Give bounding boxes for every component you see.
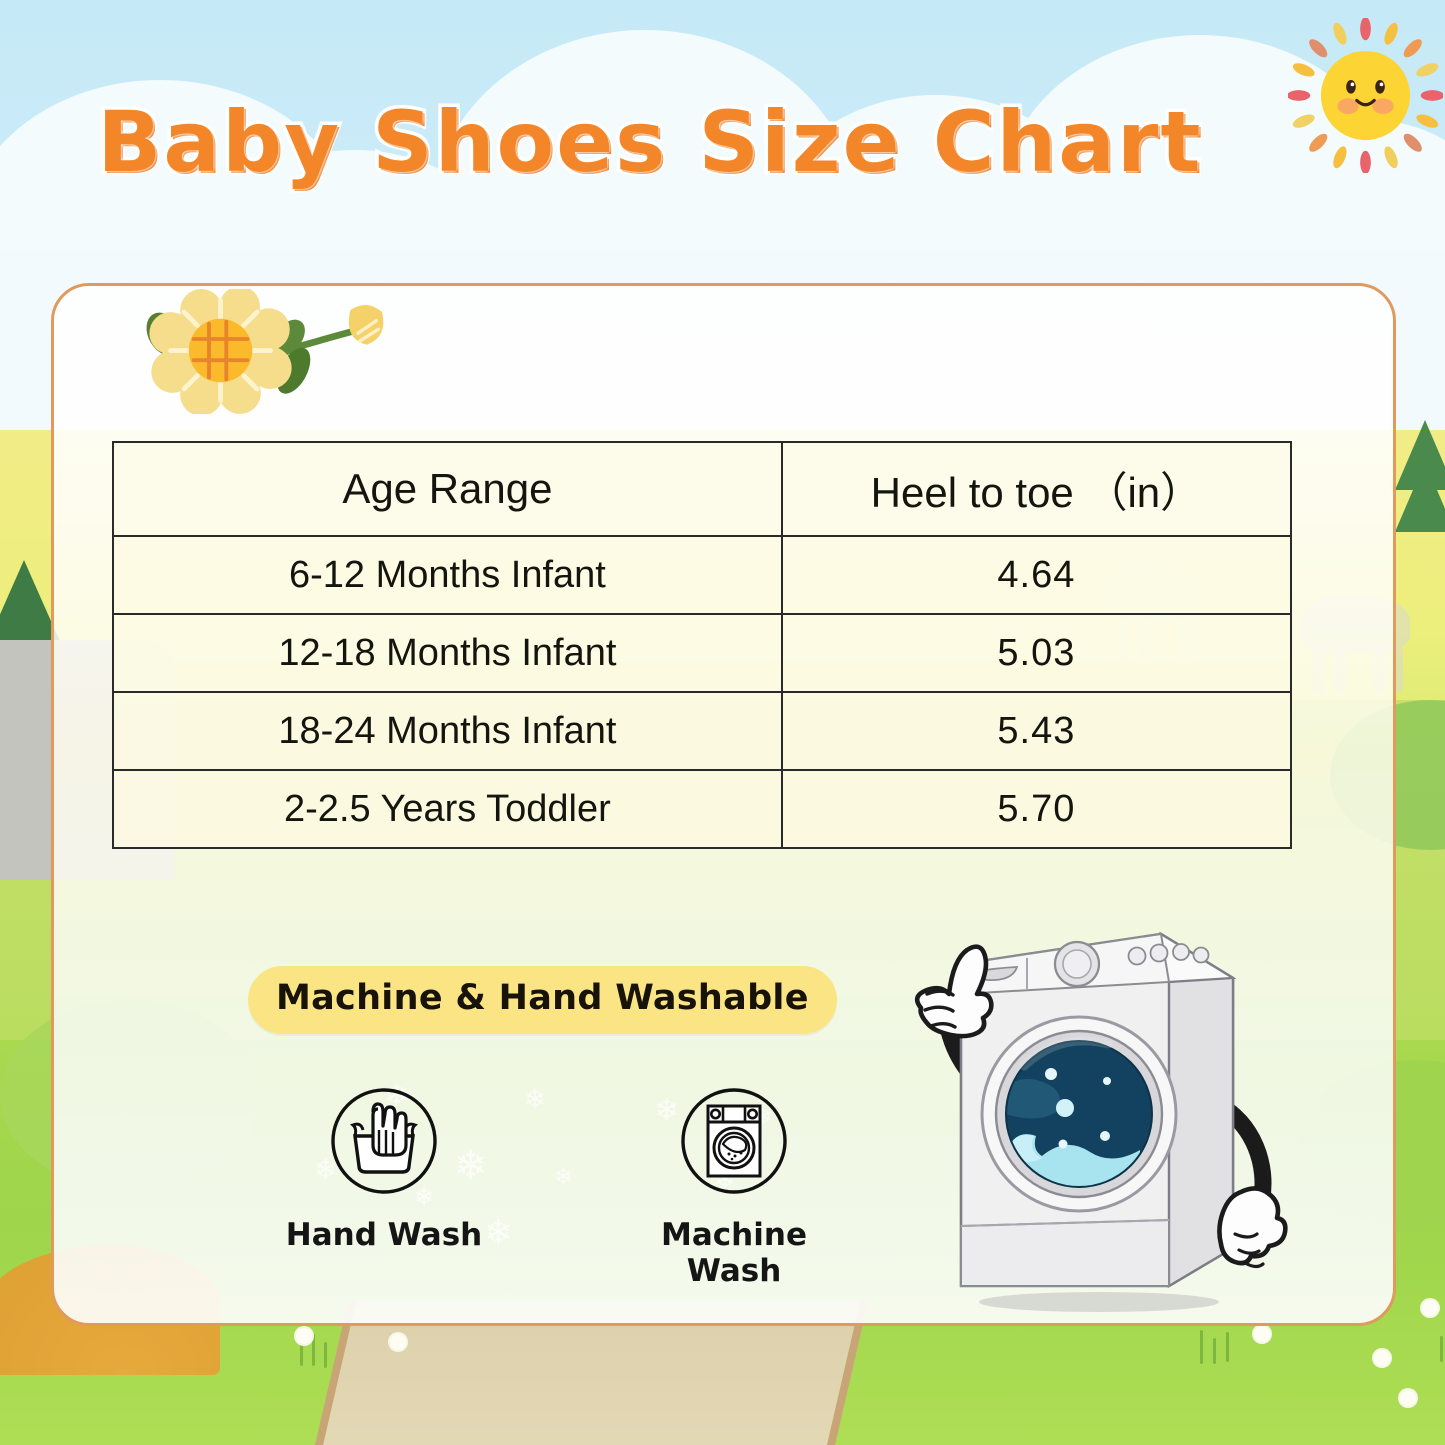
care-item-machine-wash: Machine Wash — [609, 1086, 859, 1289]
column-header-age-range: Age Range — [113, 442, 782, 536]
daisy-icon — [1254, 1326, 1270, 1342]
table-row: 2-2.5 Years Toddler5.70 — [113, 770, 1291, 848]
cell-heel-to-toe: 5.70 — [782, 770, 1291, 848]
daisy-icon — [1400, 1390, 1416, 1406]
machine-wash-icon — [679, 1086, 789, 1196]
hand-wash-icon — [329, 1086, 439, 1196]
size-chart-card: Age Range Heel to toe （in） 6-12 Months I… — [51, 283, 1396, 1326]
page-title: Baby Shoes Size Chart — [0, 93, 1300, 191]
size-table: Age Range Heel to toe （in） 6-12 Months I… — [112, 441, 1292, 849]
washing-machine-mascot-icon — [849, 886, 1329, 1316]
sun-icon — [1288, 18, 1443, 173]
table-row: 12-18 Months Infant5.03 — [113, 614, 1291, 692]
cell-heel-to-toe: 4.64 — [782, 536, 1291, 614]
size-chart-poster: Baby Shoes Size Chart — [0, 0, 1445, 1445]
cell-age-range: 6-12 Months Infant — [113, 536, 782, 614]
care-label: Hand Wash — [259, 1217, 509, 1253]
table-row: 6-12 Months Infant4.64 — [113, 536, 1291, 614]
table-header-row: Age Range Heel to toe （in） — [113, 442, 1291, 536]
daisy-icon — [1374, 1350, 1390, 1366]
cell-heel-to-toe: 5.03 — [782, 614, 1291, 692]
care-label: Machine Wash — [609, 1217, 859, 1289]
cell-age-range: 18-24 Months Infant — [113, 692, 782, 770]
care-item-hand-wash: Hand Wash — [259, 1086, 509, 1253]
cell-age-range: 2-2.5 Years Toddler — [113, 770, 782, 848]
washable-badge: Machine & Hand Washable — [248, 966, 837, 1034]
daisy-icon — [390, 1334, 406, 1350]
column-header-heel-to-toe: Heel to toe （in） — [782, 442, 1291, 536]
table-row: 18-24 Months Infant5.43 — [113, 692, 1291, 770]
cell-heel-to-toe: 5.43 — [782, 692, 1291, 770]
daisy-icon — [1422, 1300, 1438, 1316]
pine-tree-icon — [1395, 462, 1445, 532]
daisy-icon — [296, 1328, 312, 1344]
sunflower-icon — [124, 289, 394, 414]
cell-age-range: 12-18 Months Infant — [113, 614, 782, 692]
